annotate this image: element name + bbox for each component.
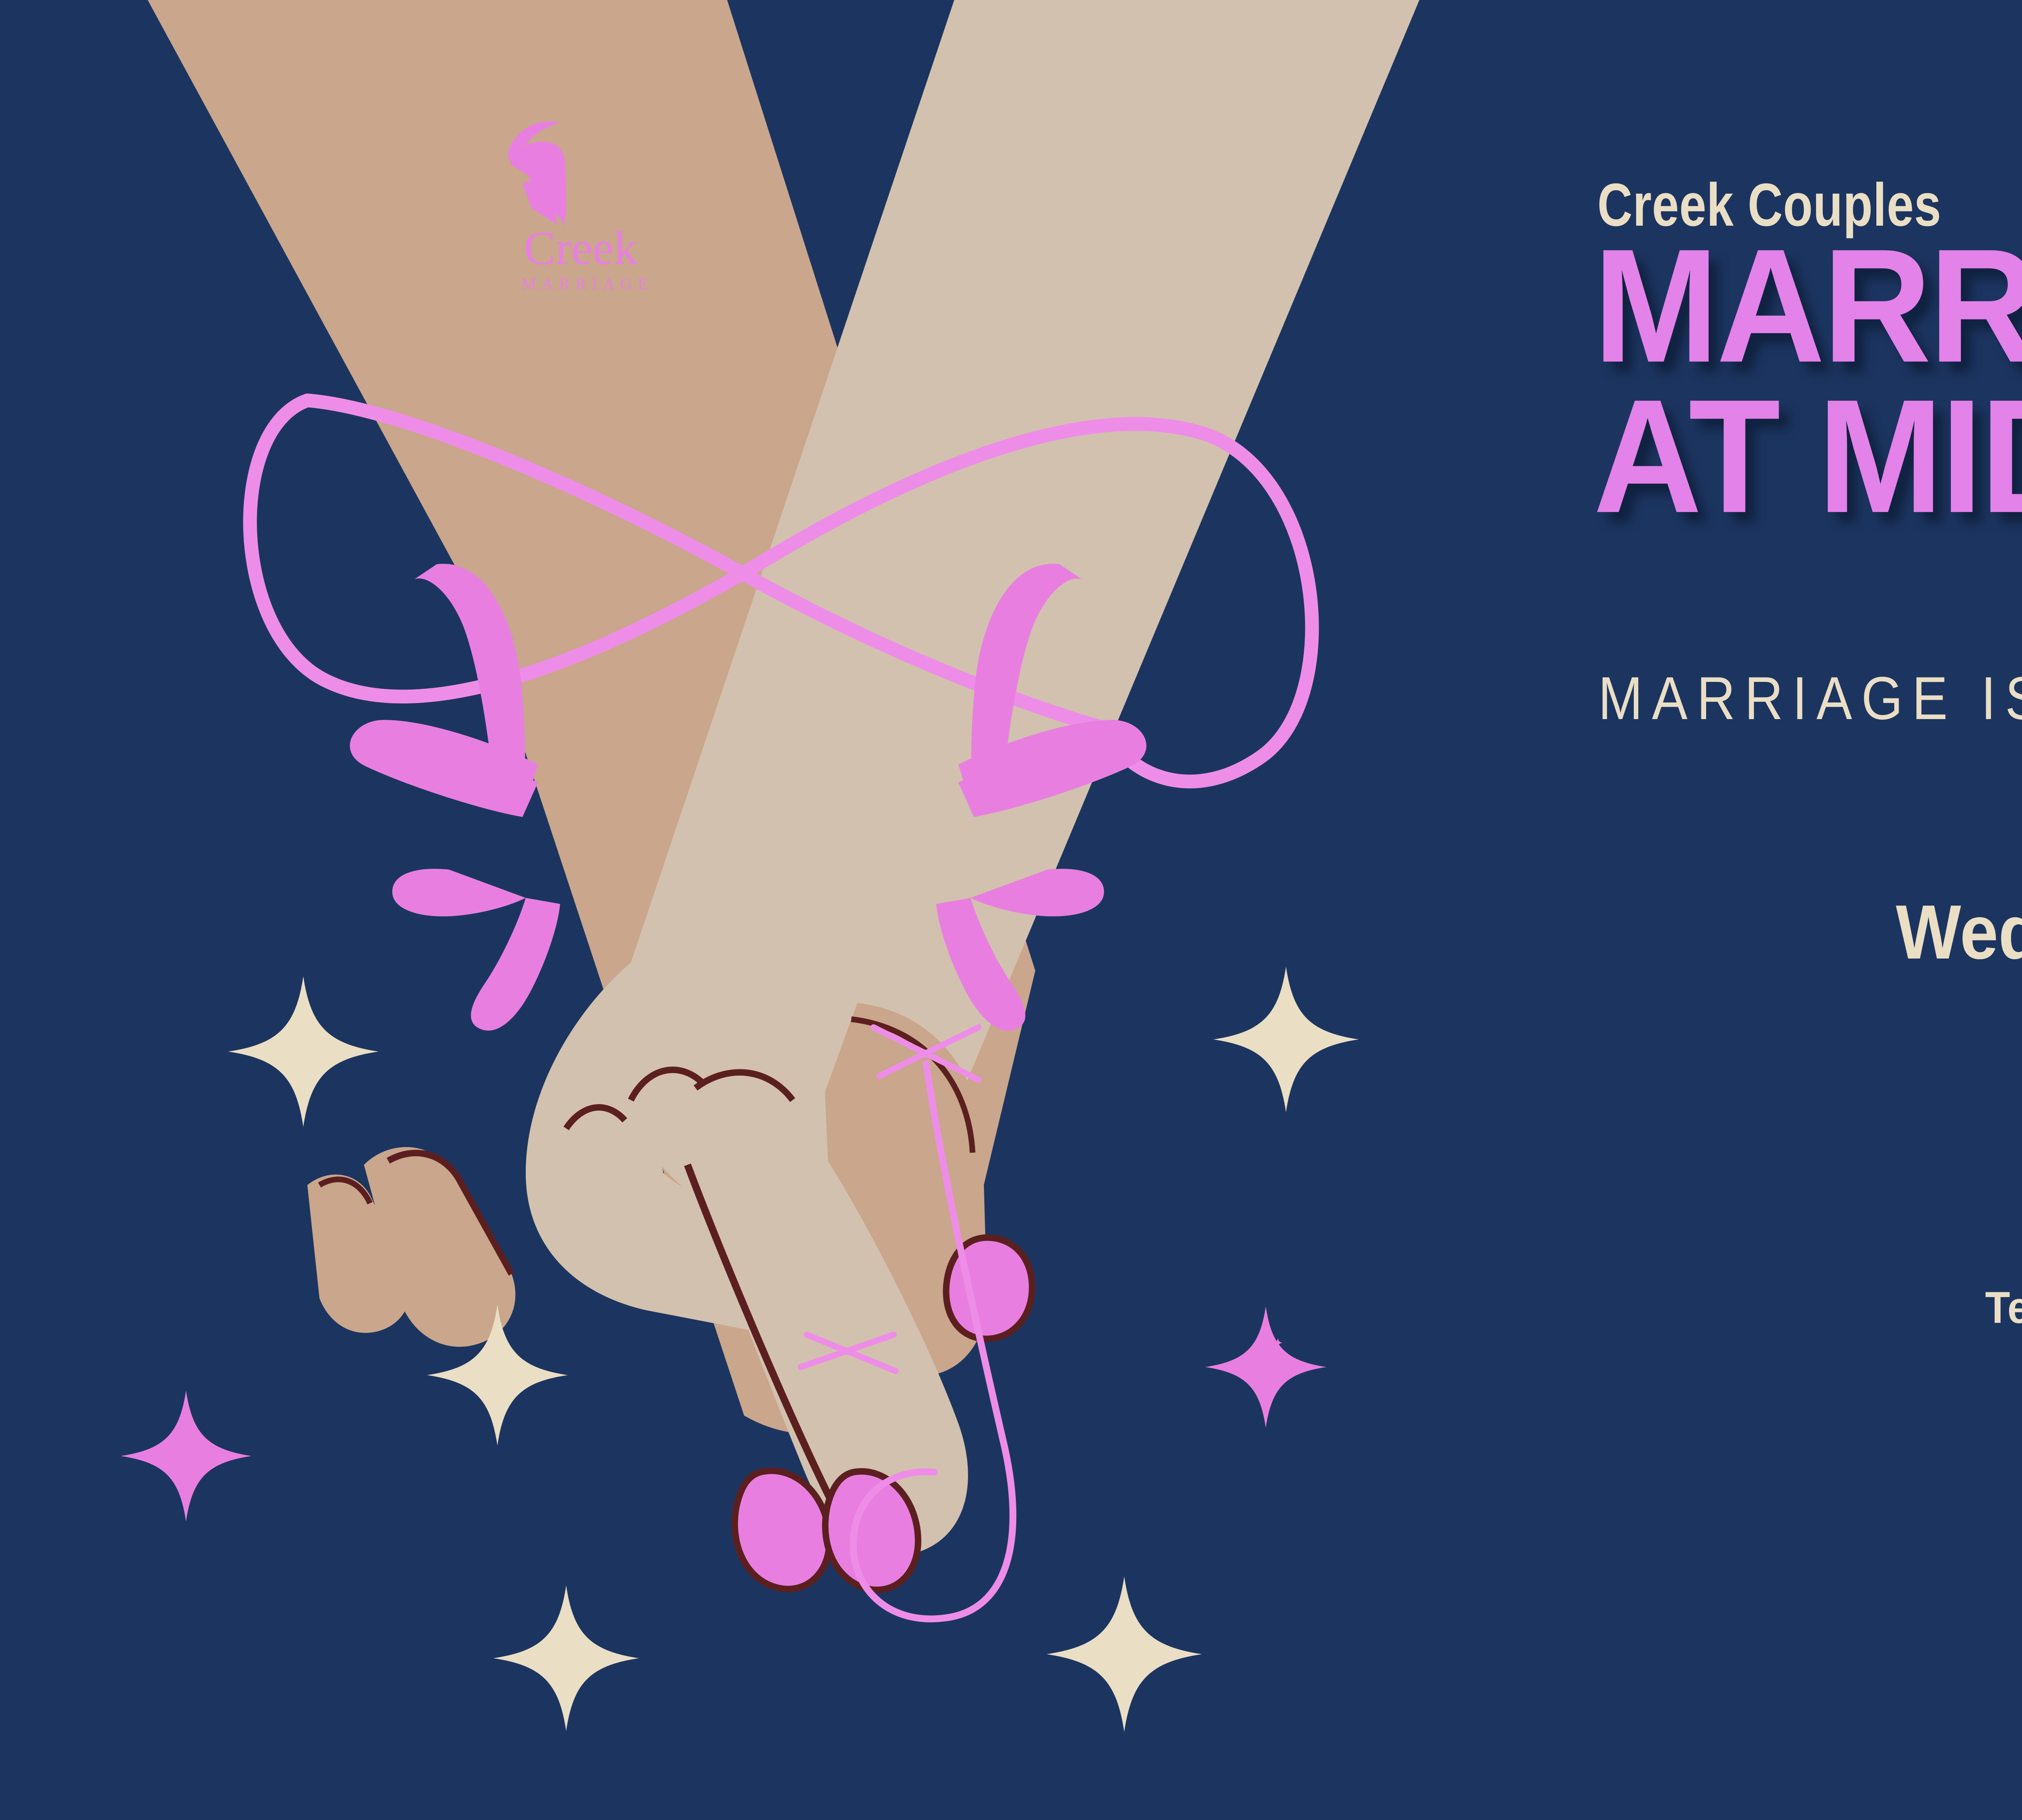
- event-detail-line-1: Wednesdays | Begins Aug. 20: [1618, 882, 2022, 983]
- logo-subtitle: MARRIAGE: [522, 275, 653, 293]
- marriage-at-midweek-poster: Creek MARRIAGE Creek Couples MARRIAGE AT…: [0, 0, 2022, 1820]
- tagline: MARRIAGE IS BETTER TOGETHER: [1598, 663, 2022, 733]
- event-detail-line-2: 6:30 – 8 p.m. | A234: [1618, 983, 2022, 1085]
- event-details: Wednesdays | Begins Aug. 20 6:30 – 8 p.m…: [1533, 882, 2022, 1085]
- logo-wordmark: Creek: [524, 222, 638, 275]
- headline-line-1: MARRIAGE: [1593, 231, 2022, 381]
- headline-line-2: AT MIDWEEK: [1593, 381, 2022, 531]
- scan-to-register-row: Scan: [1533, 1460, 2022, 1570]
- sms-instruction: Text TOGETHER to 77978 to learn more: [1601, 1282, 2022, 1333]
- page-title: MARRIAGE AT MIDWEEK: [1593, 231, 2022, 531]
- holding-hands-illustration: Creek MARRIAGE: [0, 0, 1521, 1820]
- sms-prefix: Text: [1985, 1283, 2022, 1333]
- poster-text-column: Creek Couples MARRIAGE AT MIDWEEK MARRIA…: [1533, 0, 2022, 1820]
